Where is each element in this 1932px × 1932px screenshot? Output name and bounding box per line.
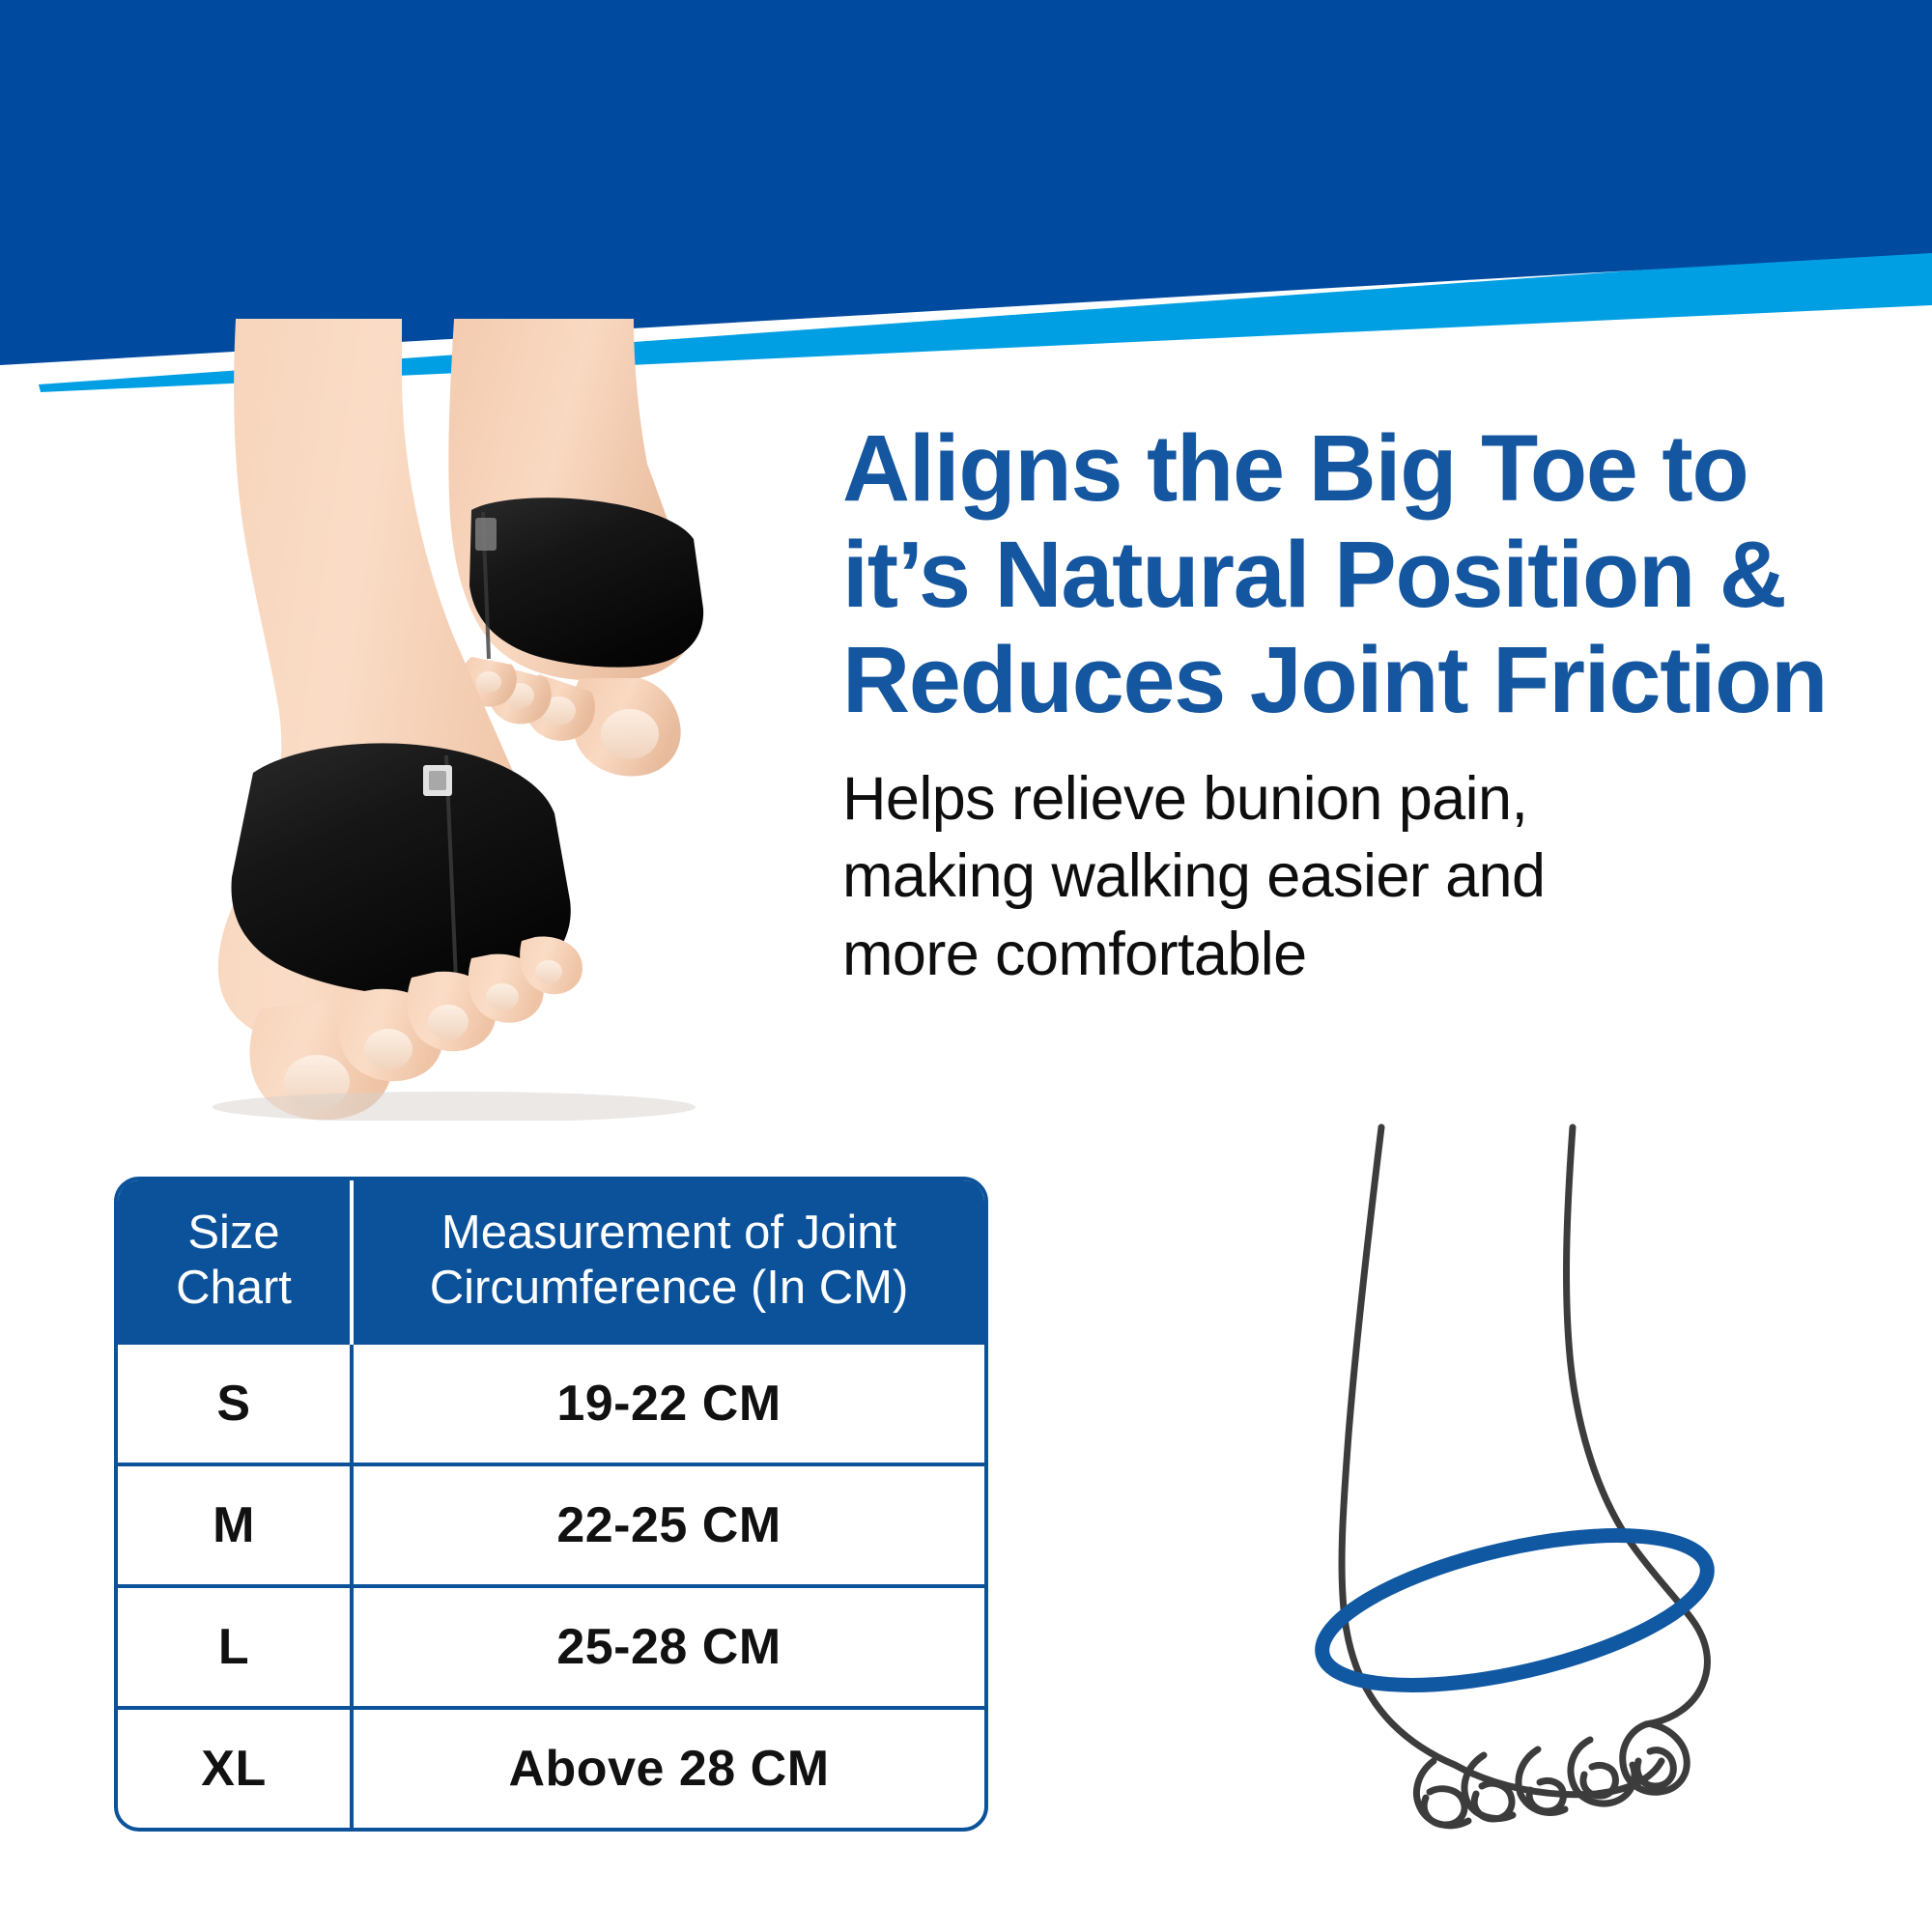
subheadline-line-1: Helps relieve bunion pain, bbox=[842, 765, 1527, 833]
cell-measurement: Above 28 CM bbox=[350, 1710, 984, 1828]
table-row: M 22-25 CM bbox=[118, 1463, 984, 1584]
cell-size: XL bbox=[118, 1710, 350, 1828]
subheadline-line-3: more comfortable bbox=[842, 921, 1307, 988]
cell-size: M bbox=[118, 1466, 350, 1584]
bunion-corrector-sleeve bbox=[232, 743, 571, 996]
foot-measurement-diagram bbox=[1256, 1116, 1855, 1831]
page-subheadline: Helps relieve bunion pain, making walkin… bbox=[842, 760, 1890, 994]
column-header-size-chart: Size Chart bbox=[118, 1180, 350, 1345]
banner-primary-band bbox=[0, 0, 1932, 365]
page-headline: Aligns the Big Toe to it’s Natural Posit… bbox=[842, 415, 1890, 733]
toenail bbox=[601, 709, 659, 759]
cell-measurement: 25-28 CM bbox=[350, 1588, 984, 1706]
column-header-measurement: Measurement of Joint Circumference (In C… bbox=[350, 1180, 984, 1345]
size-chart-table: Size Chart Measurement of Joint Circumfe… bbox=[114, 1177, 988, 1832]
copy-block: Aligns the Big Toe to it’s Natural Posit… bbox=[842, 415, 1890, 994]
headline-line-2: it’s Natural Position & bbox=[842, 522, 1786, 627]
cell-size: S bbox=[118, 1345, 350, 1463]
column-header-measurement-line-1: Measurement of Joint bbox=[430, 1206, 909, 1261]
table-row: XL Above 28 CM bbox=[118, 1706, 984, 1828]
foot-outline-icon bbox=[1342, 1127, 1707, 1826]
table-row: S 19-22 CM bbox=[118, 1345, 984, 1463]
column-header-measurement-line-2: Circumference (In CM) bbox=[430, 1261, 909, 1316]
measurement-ring-icon bbox=[1309, 1506, 1720, 1715]
column-header-size-line-1: Size bbox=[176, 1206, 292, 1261]
cell-size: L bbox=[118, 1588, 350, 1706]
cell-measurement: 19-22 CM bbox=[350, 1345, 984, 1463]
table-header-row: Size Chart Measurement of Joint Circumfe… bbox=[118, 1180, 984, 1345]
product-photo-feet-with-bunion-corrector bbox=[164, 319, 782, 1121]
cell-measurement: 22-25 CM bbox=[350, 1466, 984, 1584]
right-foot bbox=[448, 319, 703, 777]
table-row: L 25-28 CM bbox=[118, 1584, 984, 1706]
headline-line-1: Aligns the Big Toe to bbox=[842, 415, 1748, 521]
headline-line-3: Reduces Joint Friction bbox=[842, 627, 1827, 732]
column-header-size-line-2: Chart bbox=[176, 1261, 292, 1316]
subheadline-line-2: making walking easier and bbox=[842, 842, 1545, 910]
